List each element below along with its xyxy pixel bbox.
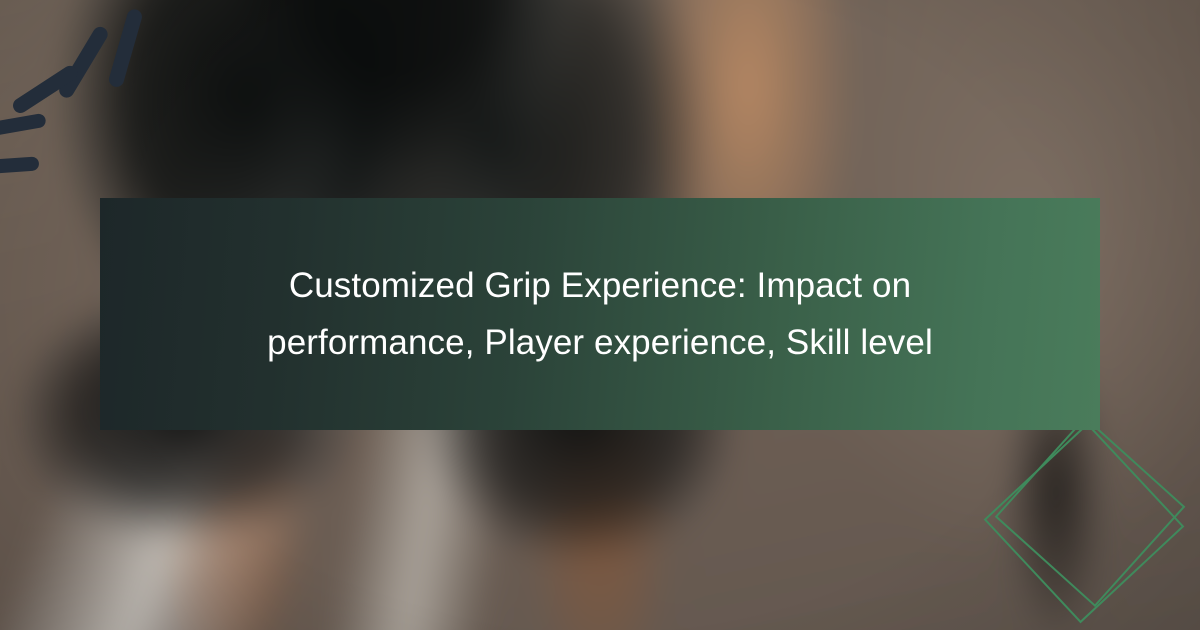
rotated-square-back: [996, 419, 1184, 606]
burst-line-1: [107, 8, 143, 89]
burst-lines-decoration: [0, 0, 200, 180]
title-banner: Customized Grip Experience: Impact on pe…: [100, 198, 1100, 430]
rotated-square-front: [985, 424, 1183, 622]
hero-banner-image: Customized Grip Experience: Impact on pe…: [0, 0, 1200, 630]
rotated-squares-decoration: [976, 419, 1200, 630]
burst-line-2: [56, 24, 110, 100]
burst-line-5: [0, 156, 39, 175]
page-title: Customized Grip Experience: Impact on pe…: [250, 257, 950, 371]
burst-line-4: [0, 113, 47, 138]
